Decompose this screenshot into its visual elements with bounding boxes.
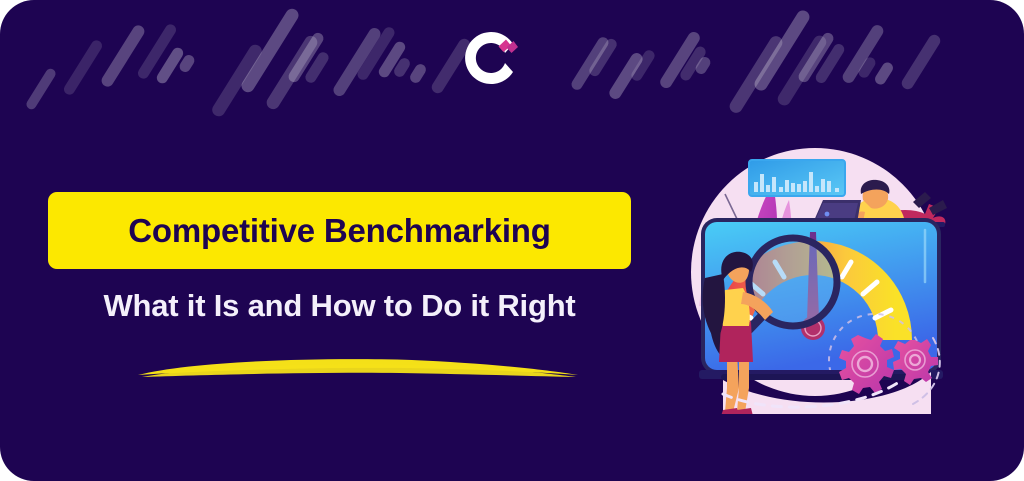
dash-right-10 <box>796 31 835 84</box>
dash-left-13 <box>377 40 408 80</box>
dash-left-9 <box>286 31 325 84</box>
laptop-logo-dot <box>825 212 830 217</box>
dash-left-2 <box>99 23 146 89</box>
logo-svg <box>463 27 525 89</box>
banner-card: Competitive Benchmarking What it Is and … <box>0 0 1024 481</box>
dash-right-6 <box>694 55 713 76</box>
dash-right-4 <box>658 30 702 91</box>
dash-right-9 <box>775 33 828 108</box>
dash-left-8 <box>264 33 320 111</box>
dash-left-15 <box>408 62 428 85</box>
dash-right-14 <box>873 60 895 86</box>
dash-left-7 <box>239 6 301 94</box>
dash-right-8 <box>752 8 812 93</box>
title-highlight-box: Competitive Benchmarking <box>48 192 631 269</box>
dash-left-12 <box>355 25 396 82</box>
dash-right-2 <box>607 51 645 101</box>
dash-right-15 <box>899 33 942 92</box>
dash-right-13 <box>857 55 878 79</box>
dash-right-3 <box>629 48 656 83</box>
page-title: Competitive Benchmarking <box>128 212 550 250</box>
dash-right-0 <box>569 35 610 92</box>
dash-right-7 <box>727 34 785 116</box>
dash-left-11 <box>331 26 383 99</box>
dash-left-6 <box>210 42 264 118</box>
dash-right-11 <box>814 42 847 85</box>
underline-svg <box>132 345 582 387</box>
dash-left-10 <box>303 50 330 85</box>
page-subtitle: What it Is and How to Do it Right <box>48 288 631 324</box>
dash-left-3 <box>136 22 178 80</box>
dash-left-4 <box>155 46 186 86</box>
bar-chart-panel <box>749 160 845 196</box>
dash-left-5 <box>178 53 197 74</box>
dash-left-0 <box>25 67 58 111</box>
yellow-brush-underline <box>132 345 582 387</box>
dash-right-1 <box>587 37 619 78</box>
dash-left-1 <box>62 38 104 96</box>
dash-right-5 <box>678 44 707 82</box>
competitive-benchmarking-illustration <box>663 122 955 414</box>
dash-left-14 <box>392 56 412 79</box>
crayon-c-logo <box>463 27 525 89</box>
illustration-svg <box>663 122 955 414</box>
dash-right-12 <box>840 23 885 85</box>
woman-skirt <box>719 322 753 362</box>
